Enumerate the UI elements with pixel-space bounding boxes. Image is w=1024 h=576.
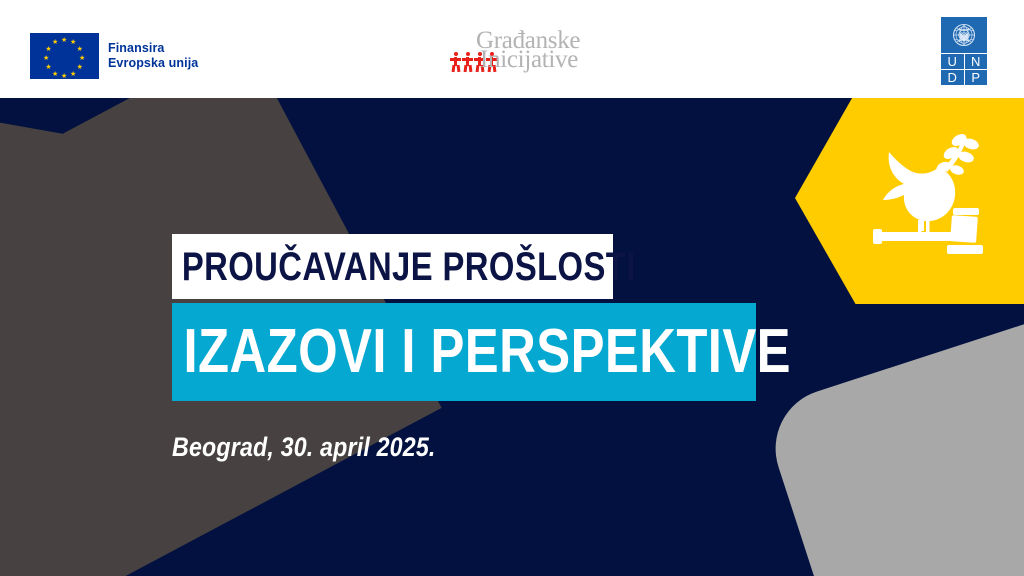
undp-letter-p: P — [965, 70, 988, 85]
dove-with-olive-branch-on-gavel-icon — [871, 128, 991, 258]
eu-funding-label-line1: Finansira — [108, 41, 198, 56]
page-title-line1: PROUČAVANJE PROŠLOSTI — [172, 247, 636, 287]
un-globe-emblem-panel — [941, 17, 987, 53]
gradjanske-inicijative-logo: Građanske Inicijative — [450, 30, 600, 78]
european-union-flag-icon — [30, 33, 99, 79]
title-band-primary: PROUČAVANJE PROŠLOSTI — [172, 234, 613, 299]
undp-letter-d: D — [941, 70, 964, 85]
undp-letter-n: N — [965, 54, 988, 69]
eu-funding-logo: Finansira Evropska unija — [30, 33, 198, 79]
gradjanske-inicijative-word2: Inicijative — [480, 47, 578, 72]
yellow-hexagon-badge — [795, 92, 1024, 304]
logo-header-bar: Finansira Evropska unija — [0, 0, 1024, 98]
undp-letters-grid: U N D P — [941, 54, 987, 85]
person-figure-icon — [450, 52, 461, 72]
person-figure-icon — [462, 52, 473, 72]
title-band-secondary: IZAZOVI I PERSPEKTIVE — [172, 303, 756, 401]
un-globe-emblem-icon — [950, 21, 978, 49]
eu-funding-label: Finansira Evropska unija — [108, 41, 198, 71]
event-date-location: Beograd, 30. april 2025. — [172, 432, 436, 462]
eu-funding-label-line2: Evropska unija — [108, 56, 198, 71]
undp-logo: U N D P — [941, 17, 987, 85]
undp-letter-u: U — [941, 54, 964, 69]
presentation-slide: PROUČAVANJE PROŠLOSTI IZAZOVI I PERSPEKT… — [0, 0, 1024, 576]
page-title-line2: IZAZOVI I PERSPEKTIVE — [172, 321, 791, 383]
